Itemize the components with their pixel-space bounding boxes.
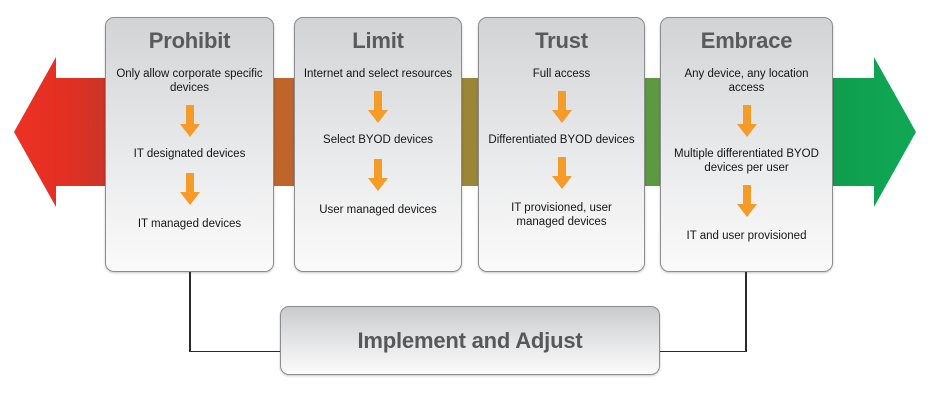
stage-title-trust: Trust: [535, 29, 588, 53]
stage-title-limit: Limit: [352, 29, 404, 53]
stage-step-text: IT provisioned, user managed devices: [486, 201, 637, 229]
stage-step-text: Differentiated BYOD devices: [486, 133, 637, 147]
stage-card-embrace[interactable]: Embrace Any device, any location access …: [660, 17, 833, 272]
stage-step-text: Full access: [486, 67, 637, 81]
stage-card-limit[interactable]: Limit Internet and select resources Sele…: [294, 17, 462, 272]
down-arrow-icon: [179, 105, 201, 137]
implement-and-adjust-box[interactable]: Implement and Adjust: [280, 306, 660, 375]
down-arrow-icon: [367, 159, 389, 191]
stage-step-text: Only allow corporate specific devices: [113, 67, 266, 95]
stage-step-text: Any device, any location access: [668, 67, 825, 95]
stage-step-text: IT managed devices: [113, 217, 266, 231]
stage-step-text: Multiple differentiated BYOD devices per…: [668, 147, 825, 175]
connector-prohibit-horizontal: [189, 351, 281, 353]
down-arrow-icon: [736, 105, 758, 137]
stage-body-prohibit: Only allow corporate specific devices IT…: [113, 65, 266, 265]
implement-and-adjust-label: Implement and Adjust: [358, 328, 583, 354]
stage-step-text: Select BYOD devices: [302, 133, 454, 147]
down-arrow-icon: [179, 173, 201, 205]
stage-card-prohibit[interactable]: Prohibit Only allow corporate specific d…: [105, 17, 274, 272]
byod-spectrum-diagram: Prohibit Only allow corporate specific d…: [0, 0, 928, 406]
stage-body-limit: Internet and select resources Select BYO…: [302, 65, 454, 265]
stage-card-trust[interactable]: Trust Full access Differentiated BYOD de…: [478, 17, 645, 272]
connector-embrace-horizontal: [659, 351, 746, 353]
stage-step-text: User managed devices: [302, 203, 454, 217]
stage-body-trust: Full access Differentiated BYOD devices …: [486, 65, 637, 265]
permissive-direction-arrow: [820, 57, 916, 207]
connector-prohibit-vertical: [189, 272, 191, 352]
down-arrow-icon: [367, 91, 389, 123]
restrictive-direction-arrow: [14, 57, 109, 207]
stage-step-text: IT and user provisioned: [668, 229, 825, 243]
connector-embrace-vertical: [745, 272, 747, 352]
stage-title-embrace: Embrace: [701, 29, 793, 53]
down-arrow-icon: [736, 185, 758, 217]
down-arrow-icon: [551, 157, 573, 189]
down-arrow-icon: [551, 91, 573, 123]
stage-step-text: Internet and select resources: [302, 67, 454, 81]
stage-body-embrace: Any device, any location access Multiple…: [668, 65, 825, 265]
stage-step-text: IT designated devices: [113, 147, 266, 161]
stage-title-prohibit: Prohibit: [149, 29, 231, 53]
